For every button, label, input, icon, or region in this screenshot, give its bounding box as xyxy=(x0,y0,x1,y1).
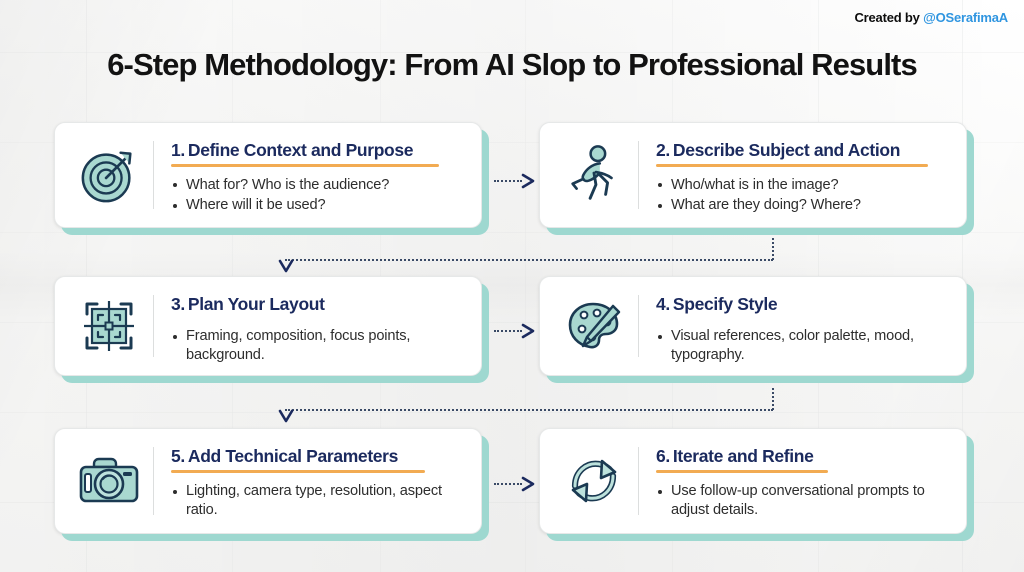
step-heading-text: Plan Your Layout xyxy=(188,294,325,314)
card-body: 1.Define Context and Purpose What for? W… xyxy=(154,133,469,217)
step-heading-text: Describe Subject and Action xyxy=(673,140,900,160)
step-number: 6. xyxy=(656,446,670,466)
card-body: 4.Specify Style Visual references, color… xyxy=(639,287,954,365)
card-body: 5.Add Technical Parameters Lighting, cam… xyxy=(154,439,469,523)
card-heading: 6.Iterate and Refine xyxy=(656,447,954,466)
card-body: 2.Describe Subject and Action Who/what i… xyxy=(639,133,954,217)
heading-underline xyxy=(171,470,425,473)
refresh-cycle-icon xyxy=(550,439,638,523)
step-card-6[interactable]: 6.Iterate and Refine Use follow-up conve… xyxy=(539,428,967,534)
page-title: 6-Step Methodology: From AI Slop to Prof… xyxy=(0,47,1024,83)
step-card-5[interactable]: 5.Add Technical Parameters Lighting, cam… xyxy=(54,428,482,534)
list-item: Where will it be used? xyxy=(171,196,469,215)
list-item: Lighting, camera type, resolution, aspec… xyxy=(171,482,469,519)
paint-palette-icon xyxy=(550,287,638,365)
step-heading-text: Add Technical Parameters xyxy=(188,446,398,466)
running-person-icon xyxy=(550,133,638,217)
step-card-4[interactable]: 4.Specify Style Visual references, color… xyxy=(539,276,967,376)
card-heading: 1.Define Context and Purpose xyxy=(171,141,469,160)
credit-handle: @OSerafimaA xyxy=(923,10,1008,25)
card-heading: 4.Specify Style xyxy=(656,295,954,314)
card-heading: 3.Plan Your Layout xyxy=(171,295,469,314)
step-card-1[interactable]: 1.Define Context and Purpose What for? W… xyxy=(54,122,482,228)
card-bullets: What for? Who is the audience? Where wil… xyxy=(171,176,469,217)
step-heading-text: Define Context and Purpose xyxy=(188,140,413,160)
framing-grid-icon xyxy=(65,287,153,365)
card-bullets: Use follow-up conversational prompts to … xyxy=(656,482,954,521)
heading-underline xyxy=(171,164,439,166)
card-bullets: Visual references, color palette, mood, … xyxy=(656,327,954,366)
camera-icon xyxy=(65,439,153,523)
step-number: 5. xyxy=(171,446,185,466)
arrow-step4-to-step5 xyxy=(283,388,775,422)
step-number: 3. xyxy=(171,294,185,314)
arrow-step5-to-step6 xyxy=(494,475,538,493)
list-item: Framing, composition, focus points, back… xyxy=(171,327,438,364)
step-number: 1. xyxy=(171,140,185,160)
step-heading-text: Iterate and Refine xyxy=(673,446,814,466)
card-heading: 2.Describe Subject and Action xyxy=(656,141,954,160)
arrow-step2-to-step3 xyxy=(283,238,775,272)
heading-underline xyxy=(656,470,828,473)
card-body: 6.Iterate and Refine Use follow-up conve… xyxy=(639,439,954,523)
list-item: Visual references, color palette, mood, … xyxy=(656,327,939,364)
card-bullets: Framing, composition, focus points, back… xyxy=(171,327,469,366)
step-number: 2. xyxy=(656,140,670,160)
card-bullets: Who/what is in the image? What are they … xyxy=(656,176,954,217)
heading-underline xyxy=(656,164,928,166)
step-card-2[interactable]: 2.Describe Subject and Action Who/what i… xyxy=(539,122,967,228)
card-body: 3.Plan Your Layout Framing, composition,… xyxy=(154,287,469,365)
step-card-3[interactable]: 3.Plan Your Layout Framing, composition,… xyxy=(54,276,482,376)
card-bullets: Lighting, camera type, resolution, aspec… xyxy=(171,482,469,521)
list-item: Use follow-up conversational prompts to … xyxy=(656,482,929,519)
card-heading: 5.Add Technical Parameters xyxy=(171,447,469,466)
step-number: 4. xyxy=(656,294,670,314)
list-item: What for? Who is the audience? xyxy=(171,176,469,195)
target-icon xyxy=(65,133,153,217)
step-heading-text: Specify Style xyxy=(673,294,777,314)
arrow-step1-to-step2 xyxy=(494,172,538,190)
list-item: Who/what is in the image? xyxy=(656,176,954,195)
list-item: What are they doing? Where? xyxy=(656,196,954,215)
credit-line: Created by @OSerafimaA xyxy=(854,10,1008,25)
arrow-step3-to-step4 xyxy=(494,322,538,340)
infographic-canvas: Created by @OSerafimaA 6-Step Methodolog… xyxy=(0,0,1024,572)
credit-prefix: Created by xyxy=(854,10,923,25)
